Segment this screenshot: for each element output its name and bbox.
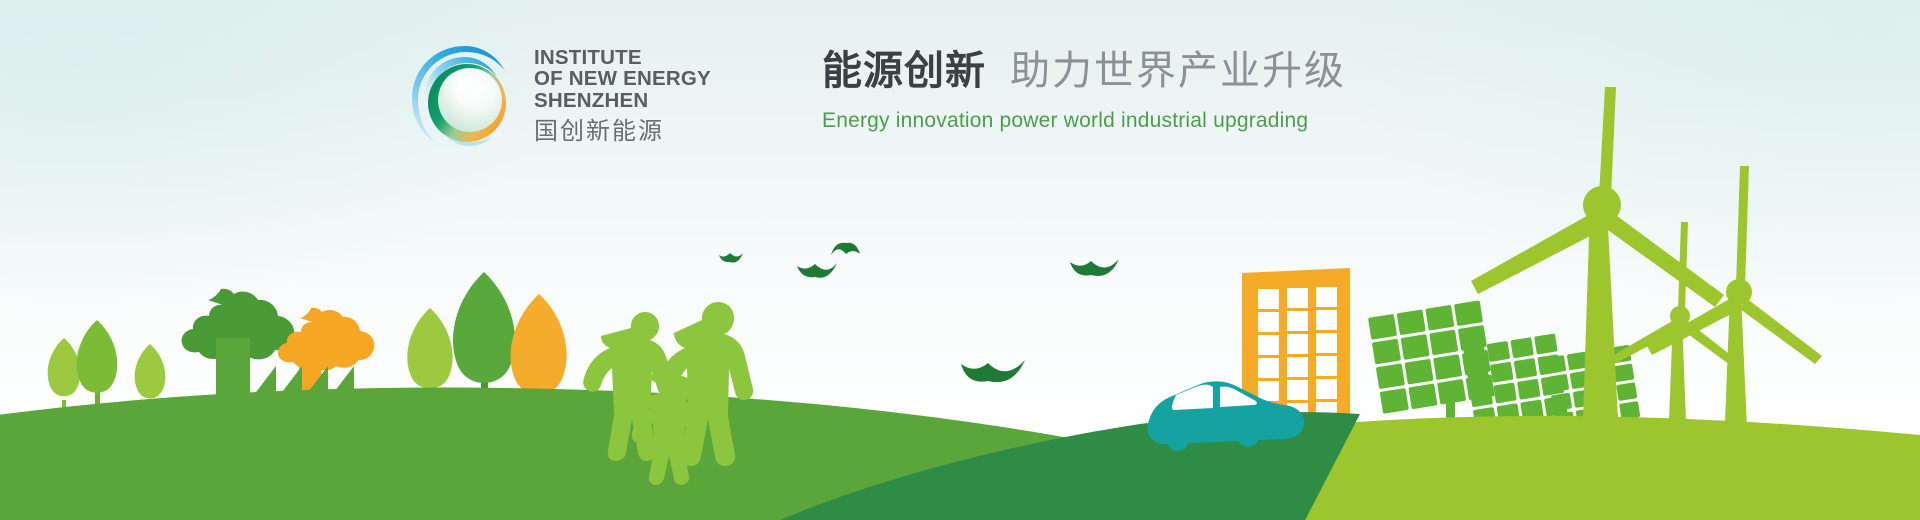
bird-icon [797,263,837,278]
brand-line-shenzhen: SHENZHEN [534,90,711,112]
factory-smoke-orange [278,308,374,371]
new-energy-sphere-logo-icon [408,38,520,154]
hero-banner: INSTITUTE OF NEW ENERGY SHENZHEN 国创新能源 能… [0,0,1920,520]
headline-primary: 能源创新 [822,48,986,94]
brand-lockup[interactable]: INSTITUTE OF NEW ENERGY SHENZHEN 国创新能源 [408,38,711,154]
headline-subtitle: Energy innovation power world industrial… [822,109,1346,133]
bird-icon [961,360,1025,382]
bird-icon [831,243,860,255]
bird-icon [719,253,743,263]
headline: 能源创新 助力世界产业升级 [822,48,1346,94]
brand-text-block: INSTITUTE OF NEW ENERGY SHENZHEN 国创新能源 [534,47,711,146]
brand-line-institute: INSTITUTE [534,47,711,69]
brand-line-of-new-energy: OF NEW ENERGY [534,68,711,90]
bird-icon [1070,259,1119,276]
headline-secondary: 助力世界产业升级 [1010,48,1346,94]
brand-chinese-name: 国创新能源 [534,119,711,145]
headline-block: 能源创新 助力世界产业升级 Energy innovation power wo… [822,48,1346,133]
bird-flock [719,243,1119,382]
